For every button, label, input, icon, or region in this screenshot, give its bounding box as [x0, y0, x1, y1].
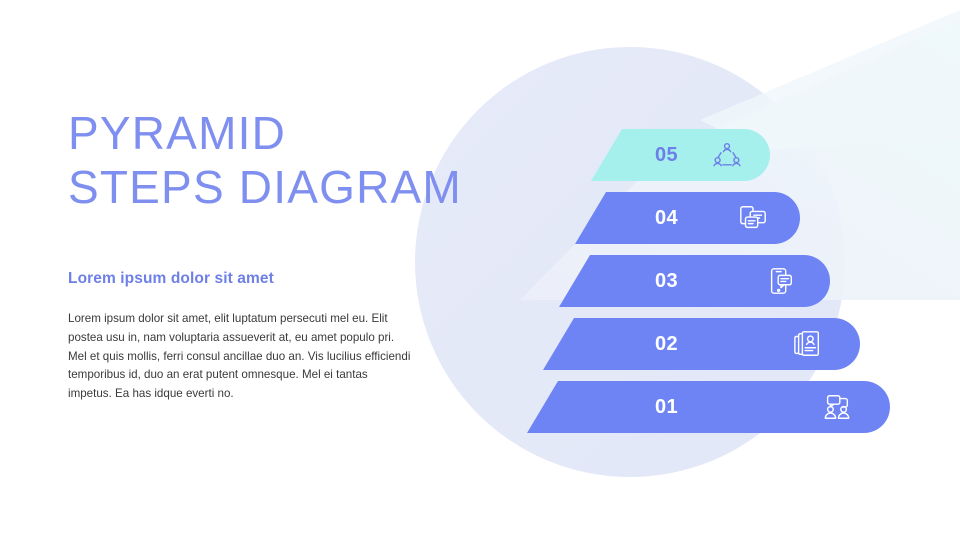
resume-profile-icon — [793, 329, 823, 359]
subheading: Lorem ipsum dolor sit amet — [68, 270, 274, 288]
pyramid-step-02[interactable]: 02 — [470, 318, 860, 370]
text-column: PYRAMID STEPS DIAGRAM — [68, 106, 468, 215]
slide-canvas: PYRAMID STEPS DIAGRAM Lorem ipsum dolor … — [0, 0, 960, 540]
pyramid-step-01[interactable]: 01 — [470, 381, 890, 433]
body-paragraph: Lorem ipsum dolor sit amet, elit luptatu… — [68, 310, 413, 404]
mobile-message-icon — [766, 266, 796, 296]
network-team-icon — [712, 140, 742, 170]
pyramid-step-05[interactable]: 05 — [470, 129, 770, 181]
pyramid-step-04[interactable]: 04 — [470, 192, 800, 244]
page-title: PYRAMID STEPS DIAGRAM — [68, 106, 468, 215]
pyramid-steps-diagram: 05 04 — [470, 10, 960, 470]
pyramid-step-02-number: 02 — [655, 318, 678, 370]
pyramid-step-01-number: 01 — [655, 381, 678, 433]
pyramid-step-04-number: 04 — [655, 192, 678, 244]
pyramid-step-05-number: 05 — [655, 129, 678, 181]
pyramid-step-03[interactable]: 03 — [470, 255, 830, 307]
devices-chat-icon — [738, 203, 768, 233]
pyramid-step-03-number: 03 — [655, 255, 678, 307]
people-conversation-icon — [822, 392, 852, 422]
